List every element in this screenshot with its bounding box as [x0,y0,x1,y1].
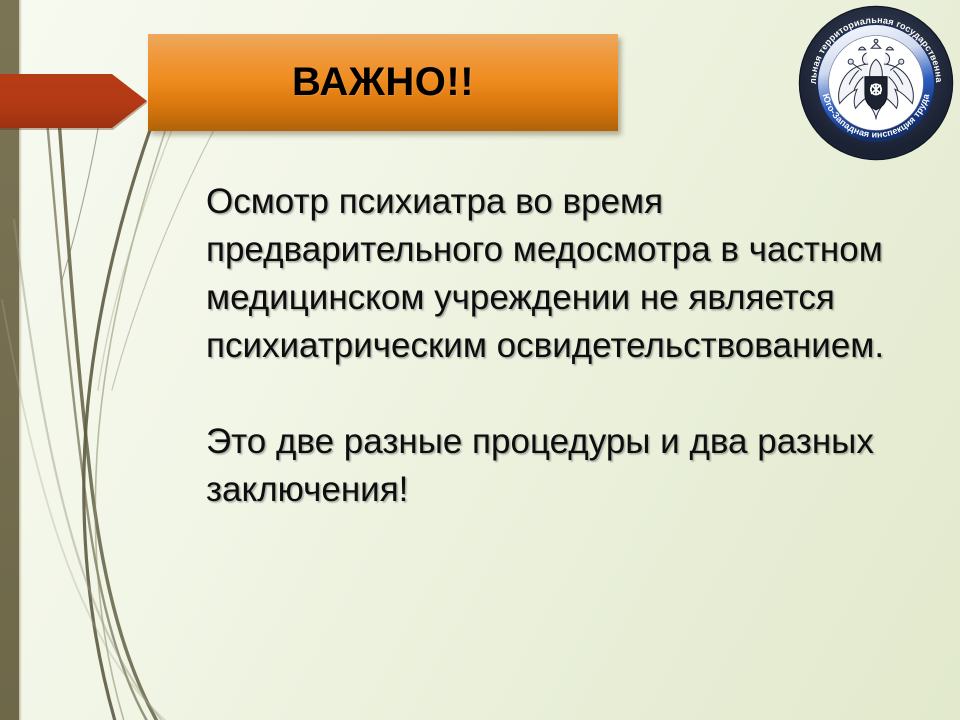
paragraph-1: Осмотр психиатра во время предварительно… [206,178,896,370]
slide-canvas: ВАЖНО!! [0,0,960,720]
state-labour-inspectorate-seal-icon: межрегиональная территориальная государс… [797,4,955,162]
paragraph-2: Это две разные процедуры и два разных за… [206,418,896,514]
body-text-block: Осмотр психиатра во время предварительно… [206,178,896,514]
title-banner: ВАЖНО!! [148,34,618,131]
right-pointing-arrow-icon [0,72,148,130]
page-title: ВАЖНО!! [292,60,474,105]
